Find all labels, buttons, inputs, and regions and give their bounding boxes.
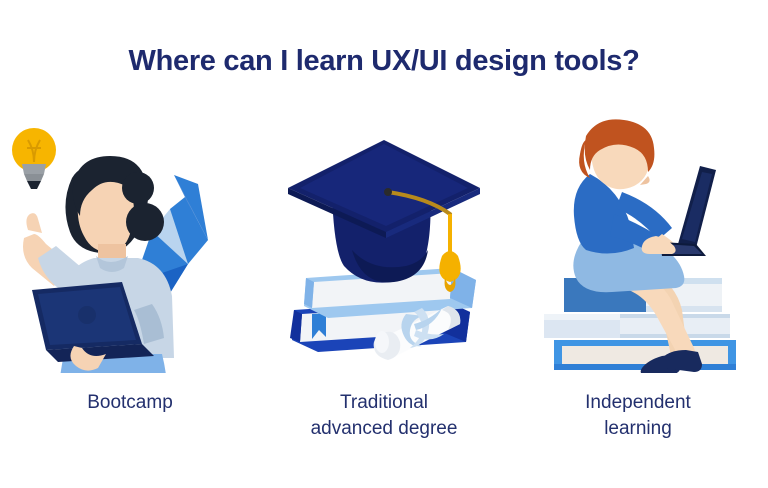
column-bootcamp: Bootcamp	[2, 118, 258, 458]
caption-line-1: Bootcamp	[2, 390, 258, 416]
caption-line-1: Independent	[510, 390, 766, 416]
column-independent-learning: Independent learning	[510, 118, 766, 458]
illustration-bootcamp	[2, 118, 258, 373]
page-title: Where can I learn UX/UI design tools?	[0, 44, 768, 78]
columns-container: Bootcamp	[0, 118, 768, 458]
illustration-graduation	[256, 118, 512, 373]
caption-line-2: advanced degree	[256, 416, 512, 442]
infographic-page: Where can I learn UX/UI design tools?	[0, 0, 768, 488]
lightbulb-icon	[12, 128, 56, 189]
column-traditional-degree: Traditional advanced degree	[256, 118, 512, 458]
caption-traditional-degree: Traditional advanced degree	[256, 390, 512, 442]
caption-line-2: learning	[510, 416, 766, 442]
caption-line-1: Traditional	[256, 390, 512, 416]
caption-independent-learning: Independent learning	[510, 390, 766, 442]
caption-bootcamp: Bootcamp	[2, 390, 258, 416]
illustration-independent-learning	[510, 118, 766, 373]
